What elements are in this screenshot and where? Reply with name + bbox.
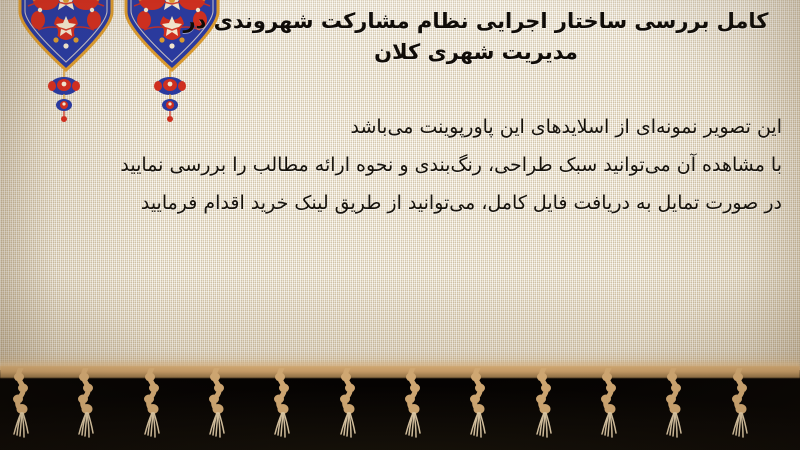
tassel	[661, 368, 687, 440]
tassel	[335, 368, 361, 440]
slide-canvas: کامل بررسی ساختار اجرایی نظام مشارکت شهر…	[0, 0, 800, 450]
slide-body-text: این تصویر نمونه‌ای از اسلایدهای این پاور…	[0, 108, 782, 222]
tassel	[531, 368, 557, 440]
tassel	[596, 368, 622, 440]
ornament-medallion-left	[16, 0, 116, 74]
tassel	[204, 368, 230, 440]
tassel	[465, 368, 491, 440]
tassel	[73, 368, 99, 440]
tassel	[8, 368, 34, 440]
tassel	[139, 368, 165, 440]
body-line-3: در صورت تمایل به دریافت فایل کامل، می‌تو…	[0, 184, 782, 222]
body-line-2: با مشاهده آن می‌توانید سبک طراحی، رنگ‌بن…	[0, 146, 782, 184]
slide-title-line-1: کامل بررسی ساختار اجرایی نظام مشارکت شهر…	[176, 6, 776, 37]
slide-title-line-2: مدیریت شهری کلان	[176, 37, 776, 68]
persian-illumination-medallion-icon	[16, 0, 116, 74]
tassel	[400, 368, 426, 440]
body-line-1: این تصویر نمونه‌ای از اسلایدهای این پاور…	[0, 108, 782, 146]
tassel	[269, 368, 295, 440]
slide-title: کامل بررسی ساختار اجرایی نظام مشارکت شهر…	[176, 6, 776, 68]
tassel	[727, 368, 753, 440]
